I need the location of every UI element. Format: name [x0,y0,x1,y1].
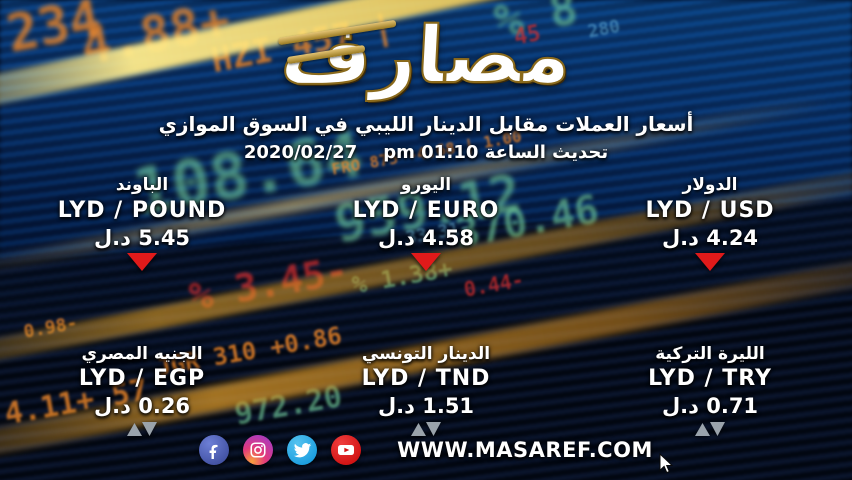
update-date: 2020/02/27 [244,142,357,163]
youtube-icon[interactable] [331,435,361,465]
facebook-icon[interactable] [199,435,229,465]
currency-rate-value: 0.26 د.ل [0,394,284,418]
currency-name: الجنيه المصري [0,345,284,364]
trend-down-icon [127,253,157,271]
currency-pair: LYD / EURO [284,198,568,223]
footer: WWW.MASAREF.COM [0,428,852,472]
currency-name: الدولار [568,176,852,195]
screen: 234+4.88| HZI 4578 %45280108.64959.12370… [0,0,852,480]
currency-pair: LYD / USD [568,198,852,223]
currency-card[interactable]: الباوندLYD / POUND5.45 د.ل [0,176,284,293]
currency-card[interactable]: الدولارLYD / USD4.24 د.ل [568,176,852,293]
currency-rate-value: 4.58 د.ل [284,226,568,250]
currency-name: الليرة التركية [568,345,852,364]
header: أسعار العملات مقابل الدينار الليبي في ال… [0,112,852,163]
currency-grid: الدولارLYD / USD4.24 د.لاليوروLYD / EURO… [0,176,852,461]
currency-rate-value: 0.71 د.ل [568,394,852,418]
page-title: أسعار العملات مقابل الدينار الليبي في ال… [0,112,852,136]
trend-down-icon [411,253,441,271]
currency-rate-value: 5.45 د.ل [0,226,284,250]
currency-pair: LYD / POUND [0,198,284,223]
currency-name: اليورو [284,176,568,195]
currency-rate-value: 4.24 د.ل [568,226,852,250]
currency-name: الباوند [0,176,284,195]
currency-card[interactable]: اليوروLYD / EURO4.58 د.ل [284,176,568,293]
instagram-icon[interactable] [243,435,273,465]
currency-pair: LYD / TRY [568,366,852,391]
currency-name: الدينار التونسي [284,345,568,364]
currency-rate-value: 1.51 د.ل [284,394,568,418]
website-url[interactable]: WWW.MASAREF.COM [397,438,653,462]
currency-pair: LYD / TND [284,366,568,391]
currency-pair: LYD / EGP [0,366,284,391]
twitter-icon[interactable] [287,435,317,465]
update-line: تحديث الساعة 01:10 pm 2020/02/27 [0,142,852,163]
trend-down-icon [695,253,725,271]
update-time: تحديث الساعة 01:10 pm [383,142,608,163]
